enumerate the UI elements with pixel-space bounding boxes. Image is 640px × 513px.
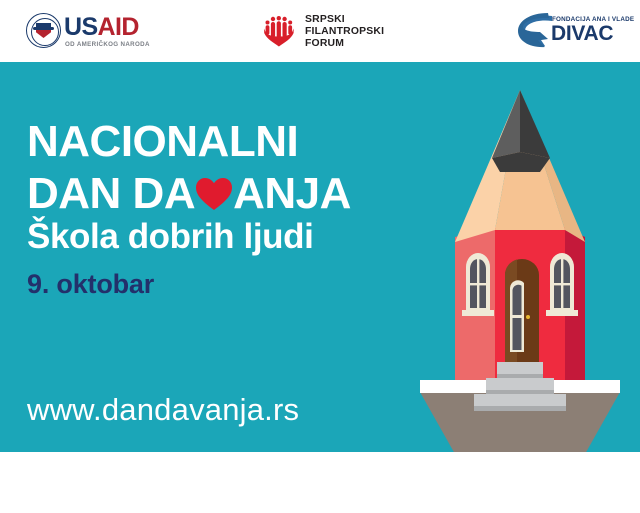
main-panel: NACIONALNI DAN DAANJA Škola dobrih ljudi…: [0, 62, 640, 452]
website-url[interactable]: www.dandavanja.rs: [27, 392, 299, 428]
graphite-facet-right: [520, 90, 550, 158]
heart-of-people-icon: [261, 13, 297, 49]
heart-icon: [195, 177, 233, 211]
door: [505, 259, 539, 362]
top-logo-bar: USAID OD AMERIČKOG NARODA SRPSKI FILANTR…: [0, 0, 640, 62]
page-title: NACIONALNI DAN DAANJA: [27, 116, 351, 220]
window-left: [462, 253, 494, 316]
subheadline: Škola dobrih ljudi: [27, 217, 313, 257]
headline-line-2-after: ANJA: [233, 169, 351, 218]
usaid-wordmark-us: US: [64, 13, 98, 41]
pencil-house-illustration: [400, 62, 640, 452]
headline-line-1: NACIONALNI: [27, 117, 298, 166]
spf-line-1: SRPSKI: [305, 14, 384, 26]
spf-line-2: FILANTROPSKI: [305, 26, 384, 38]
usaid-wordmark-aid: AID: [98, 13, 139, 41]
spf-line-3: FORUM: [305, 38, 384, 50]
poster-canvas: USAID OD AMERIČKOG NARODA SRPSKI FILANTR…: [0, 0, 640, 513]
logo-divac[interactable]: FONDACIJA ANA I VLADE DIVAC: [518, 11, 630, 51]
logo-usaid[interactable]: USAID OD AMERIČKOG NARODA: [26, 13, 176, 49]
headline-line-2-before: DAN DA: [27, 169, 195, 218]
event-date: 9. oktobar: [27, 269, 154, 300]
window-right: [546, 253, 578, 316]
spf-wordmark: SRPSKI FILANTROPSKI FORUM: [305, 14, 384, 51]
usaid-tagline: OD AMERIČKOG NARODA: [65, 41, 150, 48]
door-knob: [526, 315, 530, 319]
usaid-seal-icon: [26, 13, 61, 48]
usaid-wordmark: USAID: [64, 15, 139, 40]
divac-wordmark: DIVAC: [551, 23, 613, 44]
logo-srpski-filantropski-forum[interactable]: SRPSKI FILANTROPSKI FORUM: [261, 12, 411, 52]
footer-logo-bar: trag FONDACIJA smart KOLEKTIV catalyst: [0, 452, 640, 513]
